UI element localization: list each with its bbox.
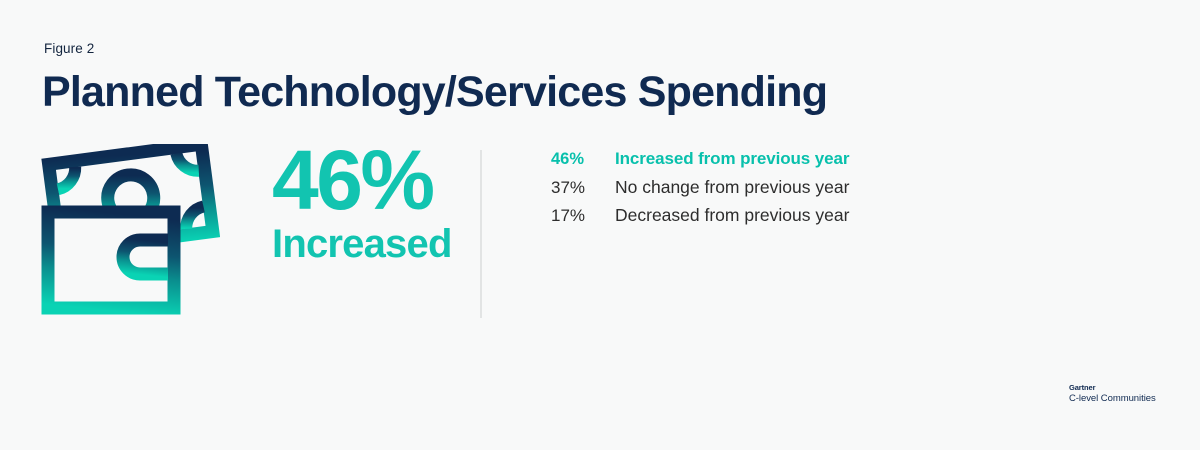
page-title: Planned Technology/Services Spending <box>42 68 827 117</box>
legend-row: 17% Decreased from previous year <box>551 205 849 233</box>
legend-percent: 17% <box>551 206 615 226</box>
highlight-stat: 46% Increased <box>272 142 452 265</box>
money-wallet-icon <box>40 144 220 316</box>
highlight-block: 46% Increased <box>40 144 460 316</box>
figure-label: Figure 2 <box>44 41 94 56</box>
brand-name: Gartner <box>1069 383 1156 392</box>
legend-row: 37% No change from previous year <box>551 177 849 205</box>
legend-percent: 46% <box>551 150 615 169</box>
brand-footer: Gartner C-level Communities <box>1069 383 1156 405</box>
highlight-caption: Increased <box>272 223 452 265</box>
brand-subtitle: C-level Communities <box>1069 393 1156 405</box>
legend-label: Increased from previous year <box>615 149 849 169</box>
legend-label: Decreased from previous year <box>615 205 849 226</box>
legend-row: 46% Increased from previous year <box>551 149 849 177</box>
highlight-value: 46% <box>272 142 452 219</box>
vertical-divider <box>480 150 482 318</box>
legend-list: 46% Increased from previous year 37% No … <box>551 149 849 233</box>
legend-percent: 37% <box>551 178 615 198</box>
legend-label: No change from previous year <box>615 177 849 198</box>
